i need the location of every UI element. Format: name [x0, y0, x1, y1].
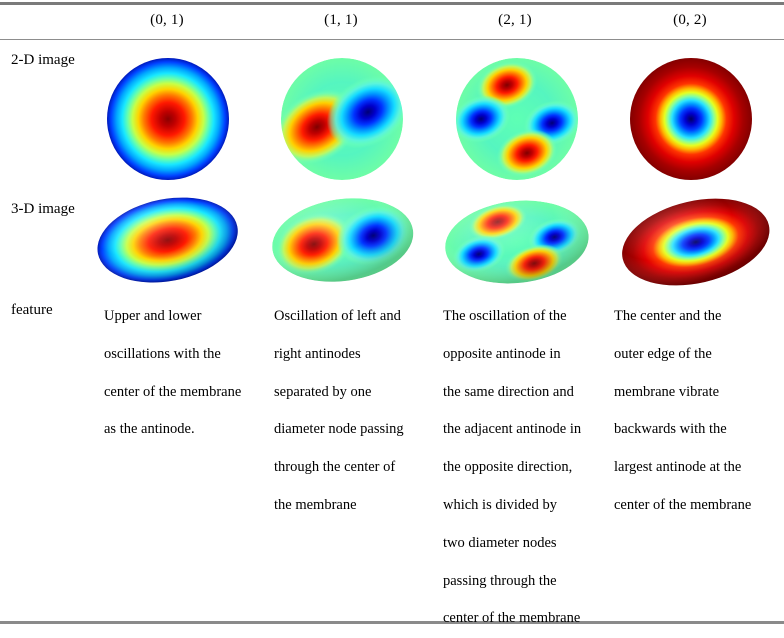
feature-line: the membrane: [274, 487, 434, 525]
table-bottom-rule: [0, 621, 784, 624]
feature-line: center of the membrane: [443, 600, 606, 638]
feature-line: oscillations with the: [104, 336, 262, 374]
column-header-mode-11: (1, 1): [281, 9, 401, 31]
feature-text-mode-01: Upper and lower oscillations with the ce…: [104, 298, 262, 449]
feature-text-mode-21: The oscillation of the opposite antinode…: [443, 298, 606, 638]
feature-line: as the antinode.: [104, 411, 262, 449]
column-header-mode-02: (0, 2): [630, 9, 750, 31]
figure-2d-mode-11: [272, 57, 412, 181]
feature-line: through the center of: [274, 449, 434, 487]
feature-text-mode-02: The center and the outer edge of the mem…: [614, 298, 780, 525]
figure-2d-mode-21: [447, 57, 587, 181]
feature-text-mode-11: Oscillation of left and right antinodes …: [274, 298, 434, 525]
column-header-mode-21: (2, 1): [455, 9, 575, 31]
feature-line: largest antinode at the: [614, 449, 780, 487]
feature-line: which is divided by: [443, 487, 606, 525]
feature-line: outer edge of the: [614, 336, 780, 374]
column-header-row: (0, 1) (1, 1) (2, 1) (0, 2): [0, 9, 784, 37]
feature-line: diameter node passing: [274, 411, 434, 449]
feature-line: right antinodes: [274, 336, 434, 374]
feature-line: separated by one: [274, 374, 434, 412]
mode-shape-table: (0, 1) (1, 1) (2, 1) (0, 2) 2-D image 3-…: [0, 0, 784, 630]
figure-2d-mode-02: [621, 57, 761, 181]
row-label-2d-image: 2-D image: [11, 50, 75, 70]
feature-line: Oscillation of left and: [274, 298, 434, 336]
figure-3d-mode-02: [617, 196, 775, 290]
feature-line: opposite antinode in: [443, 336, 606, 374]
feature-line: the opposite direction,: [443, 449, 606, 487]
feature-line: The center and the: [614, 298, 780, 336]
feature-line: the same direction and: [443, 374, 606, 412]
row-label-feature: feature: [11, 300, 53, 320]
feature-line: The oscillation of the: [443, 298, 606, 336]
figure-2d-mode-01: [98, 57, 238, 181]
feature-line: backwards with the: [614, 411, 780, 449]
column-header-mode-01: (0, 1): [107, 9, 227, 31]
feature-line: membrane vibrate: [614, 374, 780, 412]
table-header-rule: [0, 39, 784, 40]
figure-3d-mode-11: [270, 196, 420, 288]
feature-line: center of the membrane: [104, 374, 262, 412]
figure-3d-mode-01: [95, 196, 245, 288]
feature-line: Upper and lower: [104, 298, 262, 336]
table-top-rule: [0, 2, 784, 5]
figure-3d-mode-21: [442, 196, 597, 292]
feature-line: the adjacent antinode in: [443, 411, 606, 449]
row-label-3d-image: 3-D image: [11, 199, 75, 219]
feature-line: two diameter nodes: [443, 525, 606, 563]
feature-line: center of the membrane: [614, 487, 780, 525]
feature-line: passing through the: [443, 563, 606, 601]
